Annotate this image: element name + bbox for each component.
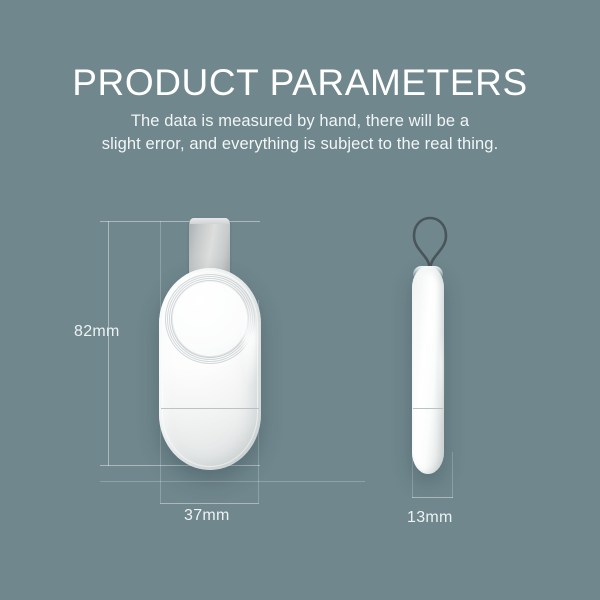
header-block: PRODUCT PARAMETERS The data is measured … <box>0 62 600 156</box>
page-subtitle-line-2: slight error, and everything is subject … <box>0 133 600 156</box>
charger-side-seam-line <box>413 408 443 409</box>
charger-body-gloss-highlight <box>243 296 257 388</box>
width-baseline-guide <box>100 481 365 482</box>
product-front-view <box>157 218 263 473</box>
width-dimension-label: 37mm <box>184 507 230 525</box>
charger-body-seam-line <box>161 408 259 409</box>
width-dimension-line <box>160 503 259 504</box>
page-subtitle-line-1: The data is measured by hand, there will… <box>0 110 600 133</box>
charger-side-highlight <box>426 308 433 362</box>
product-side-view <box>404 216 476 478</box>
charger-strap-tab-highlight <box>190 218 229 224</box>
height-dimension-label: 82mm <box>74 323 120 341</box>
height-dimension-line <box>108 221 109 466</box>
product-parameters-image: PRODUCT PARAMETERS The data is measured … <box>0 0 600 600</box>
charger-side-edge-streak <box>439 326 443 431</box>
charger-side-top-cap <box>413 266 443 278</box>
magnetic-charging-pad <box>173 282 247 356</box>
lanyard-loop-icon <box>410 216 450 270</box>
page-title: PRODUCT PARAMETERS <box>0 62 600 104</box>
page-subtitle: The data is measured by hand, there will… <box>0 110 600 156</box>
thickness-dimension-line <box>412 497 453 498</box>
thickness-dimension-label: 13mm <box>407 509 453 527</box>
